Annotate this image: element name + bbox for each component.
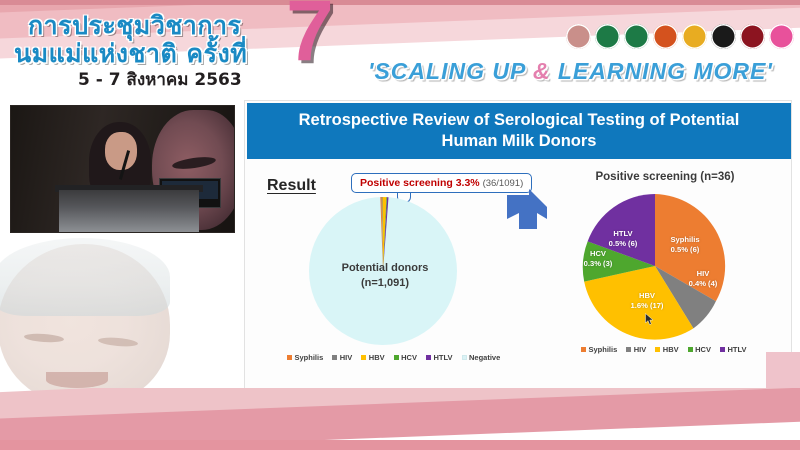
slice-label-hiv: HIV 0.4% (4) [679, 269, 727, 289]
logo-thaihealth-sss-icon [769, 24, 794, 49]
speaker-face [105, 132, 137, 170]
tagline-text-part2: LEARNING MORE' [550, 58, 772, 84]
legend-swatch-negative-icon [462, 355, 467, 360]
legend-label-hcv: HCV [401, 353, 417, 362]
slice-label-htlv: HTLV 0.5% (6) [597, 229, 649, 249]
logo-royal-crown-gold-icon [682, 24, 707, 49]
legend-label-htlv: HTLV [433, 353, 452, 362]
potential-donors-label-line2: (n=1,091) [269, 276, 501, 291]
positive-screening-legend: SyphilisHIVHBVHCVHTLV [581, 345, 747, 354]
slice-label-htlv-value: 0.5% (6) [597, 239, 649, 249]
logo-thai-breastfeeding-foundation-icon [566, 24, 591, 49]
slice-hbv-sliver [383, 197, 387, 271]
legend-swatch-syphilis-icon [287, 355, 292, 360]
logo-department-of-health-icon [624, 24, 649, 49]
logo-ministry-of-public-health-icon [595, 24, 620, 49]
header-top-rule [0, 0, 800, 5]
speaker-presentation-video[interactable] [10, 105, 235, 233]
legend-item-hbv[interactable]: HBV [655, 345, 678, 354]
legend-swatch-htlv-icon [426, 355, 431, 360]
legend-swatch-hiv-icon [332, 355, 337, 360]
legend-swatch-hbv-icon [655, 347, 660, 352]
conference-header-banner: การประชุมวิชาการ นมแม่แห่งชาติ ครั้งที่ … [0, 0, 800, 96]
slice-label-hbv: HBV 1.6% (17) [617, 291, 677, 311]
legend-item-hiv[interactable]: HIV [332, 353, 352, 362]
legend-item-hcv[interactable]: HCV [688, 345, 711, 354]
legend-label-hcv: HCV [695, 345, 711, 354]
potential-donors-center-label: Potential donors (n=1,091) [269, 261, 501, 291]
legend-swatch-hcv-icon [394, 355, 399, 360]
slice-label-hcv-value: 0.3% (3) [574, 259, 622, 269]
legend-swatch-hiv-icon [626, 347, 631, 352]
conference-date-thai: 5 - 7 สิงหาคม 2563 [78, 66, 242, 93]
legend-item-syphilis[interactable]: Syphilis [287, 353, 323, 362]
legend-label-hbv: HBV [369, 353, 385, 362]
slice-label-hbv-name: HBV [617, 291, 677, 301]
legend-item-hiv[interactable]: HIV [626, 345, 646, 354]
sponsor-logos-row [566, 24, 794, 49]
legend-label-syphilis: Syphilis [589, 345, 618, 354]
legend-label-syphilis: Syphilis [295, 353, 324, 362]
potential-donors-legend: SyphilisHIVHBVHCVHTLVNegative [287, 353, 500, 362]
transition-arrow-icon [503, 189, 551, 233]
legend-item-htlv[interactable]: HTLV [720, 345, 747, 354]
slice-label-hcv-name: HCV [574, 249, 622, 259]
legend-label-hiv: HIV [634, 345, 647, 354]
legend-swatch-hcv-icon [688, 347, 693, 352]
mouse-cursor-icon [645, 313, 654, 326]
slide-title: Retrospective Review of Serological Test… [247, 103, 791, 159]
legend-item-htlv[interactable]: HTLV [426, 353, 453, 362]
conference-tagline: 'SCALING UP & LEARNING MORE' [368, 58, 773, 85]
slice-label-htlv-name: HTLV [597, 229, 649, 239]
slice-label-syphilis: Syphilis 0.5% (6) [657, 235, 713, 255]
slice-label-hbv-value: 1.6% (17) [617, 301, 677, 311]
slice-label-syphilis-name: Syphilis [657, 235, 713, 245]
footer-band-group [0, 388, 800, 450]
logo-black-emblem-icon [711, 24, 736, 49]
background-baby-photo [0, 238, 194, 413]
legend-item-hcv[interactable]: HCV [394, 353, 417, 362]
potential-donors-pie-chart: Potential donors (n=1,091) SyphilisHIVHB… [269, 197, 501, 345]
slice-label-hiv-value: 0.4% (4) [679, 279, 727, 289]
logo-dark-red-emblem-icon [740, 24, 765, 49]
slice-label-syphilis-value: 0.5% (6) [657, 245, 713, 255]
conference-edition-number: 7 [286, 0, 334, 74]
legend-label-htlv: HTLV [727, 345, 746, 354]
presentation-slide: Retrospective Review of Serological Test… [244, 100, 792, 405]
potential-donors-label-line1: Potential donors [269, 261, 501, 276]
positive-screening-pie-title: Positive screening (n=36) [545, 171, 785, 183]
screenshot-root: การประชุมวิชาการ นมแม่แห่งชาติ ครั้งที่ … [0, 0, 800, 450]
slice-label-hiv-name: HIV [679, 269, 727, 279]
baby-mouth [46, 372, 108, 388]
legend-label-hbv: HBV [663, 345, 679, 354]
legend-swatch-syphilis-icon [581, 347, 586, 352]
legend-item-negative[interactable]: Negative [462, 353, 501, 362]
baby-hat [0, 238, 170, 316]
positive-screening-pie-chart: Syphilis 0.5% (6) HIV 0.4% (4) HBV 1.6% … [575, 191, 735, 341]
logo-royal-emblem-orange-icon [653, 24, 678, 49]
legend-item-hbv[interactable]: HBV [361, 353, 384, 362]
legend-swatch-hbv-icon [361, 355, 366, 360]
slice-label-hcv: HCV 0.3% (3) [574, 249, 622, 269]
callout-sub-text: (36/1091) [483, 178, 524, 189]
legend-item-syphilis[interactable]: Syphilis [581, 345, 617, 354]
legend-label-hiv: HIV [340, 353, 353, 362]
tagline-text-part1: 'SCALING UP [368, 58, 533, 84]
tagline-ampersand: & [533, 58, 551, 84]
legend-swatch-htlv-icon [720, 347, 725, 352]
legend-label-negative: Negative [469, 353, 500, 362]
footer-bottom-rule [0, 440, 800, 450]
podium [59, 190, 199, 232]
callout-highlight-text: Positive screening 3.3% [360, 177, 480, 189]
result-heading: Result [267, 177, 316, 195]
